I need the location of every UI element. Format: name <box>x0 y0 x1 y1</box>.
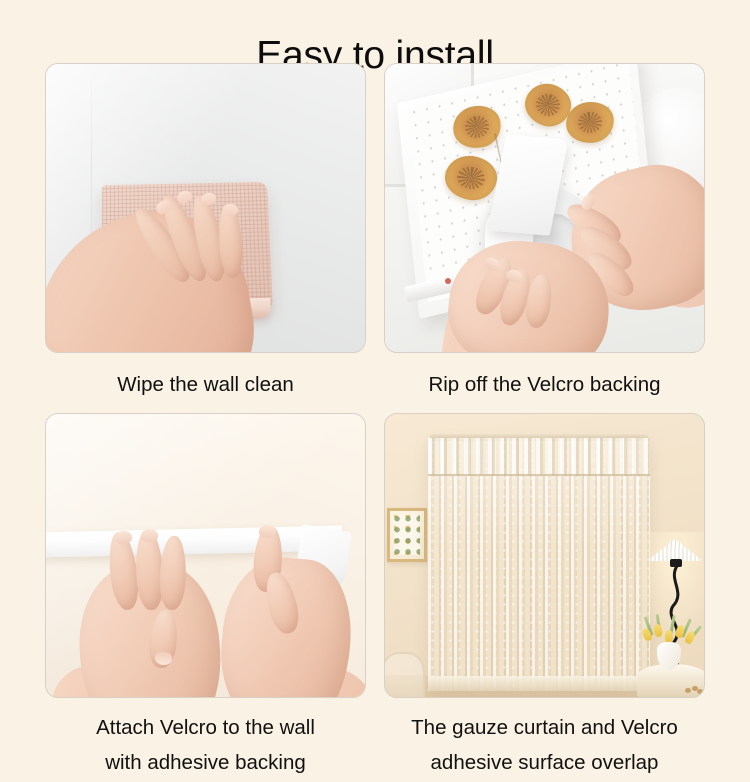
step-1-caption: Wipe the wall clean <box>45 353 366 413</box>
caption-line: The gauze curtain and Velcro <box>411 710 678 745</box>
fingernail <box>141 529 159 543</box>
step-3-image <box>45 413 366 698</box>
caption-line: adhesive surface overlap <box>431 745 659 780</box>
curtain-hem <box>428 676 650 691</box>
step-2-caption: Rip off the Velcro backing <box>384 353 705 413</box>
caption-line: Rip off the Velcro backing <box>428 367 660 402</box>
fingernail <box>223 203 239 216</box>
caption-line: Wipe the wall clean <box>117 367 294 402</box>
chair <box>384 652 425 698</box>
decor-item <box>685 688 691 693</box>
fingernail <box>259 524 277 538</box>
art-print <box>394 515 420 555</box>
tulip <box>653 623 663 637</box>
caption-line: with adhesive backing <box>105 745 306 780</box>
caption-line: Attach Velcro to the wall <box>96 710 315 745</box>
step-4-image <box>384 413 705 698</box>
table-decor <box>685 686 703 694</box>
decor-item <box>697 689 703 694</box>
curtain-valance <box>428 438 650 476</box>
step-3-caption: Attach Velcro to the wall with adhesive … <box>45 698 366 782</box>
steps-grid: Wipe the wall clean Rip off the Velcro b… <box>45 63 705 741</box>
step-4-caption: The gauze curtain and Velcro adhesive su… <box>384 698 705 782</box>
framed-art <box>387 508 427 562</box>
step-2-image <box>384 63 705 353</box>
step-1-image <box>45 63 366 353</box>
